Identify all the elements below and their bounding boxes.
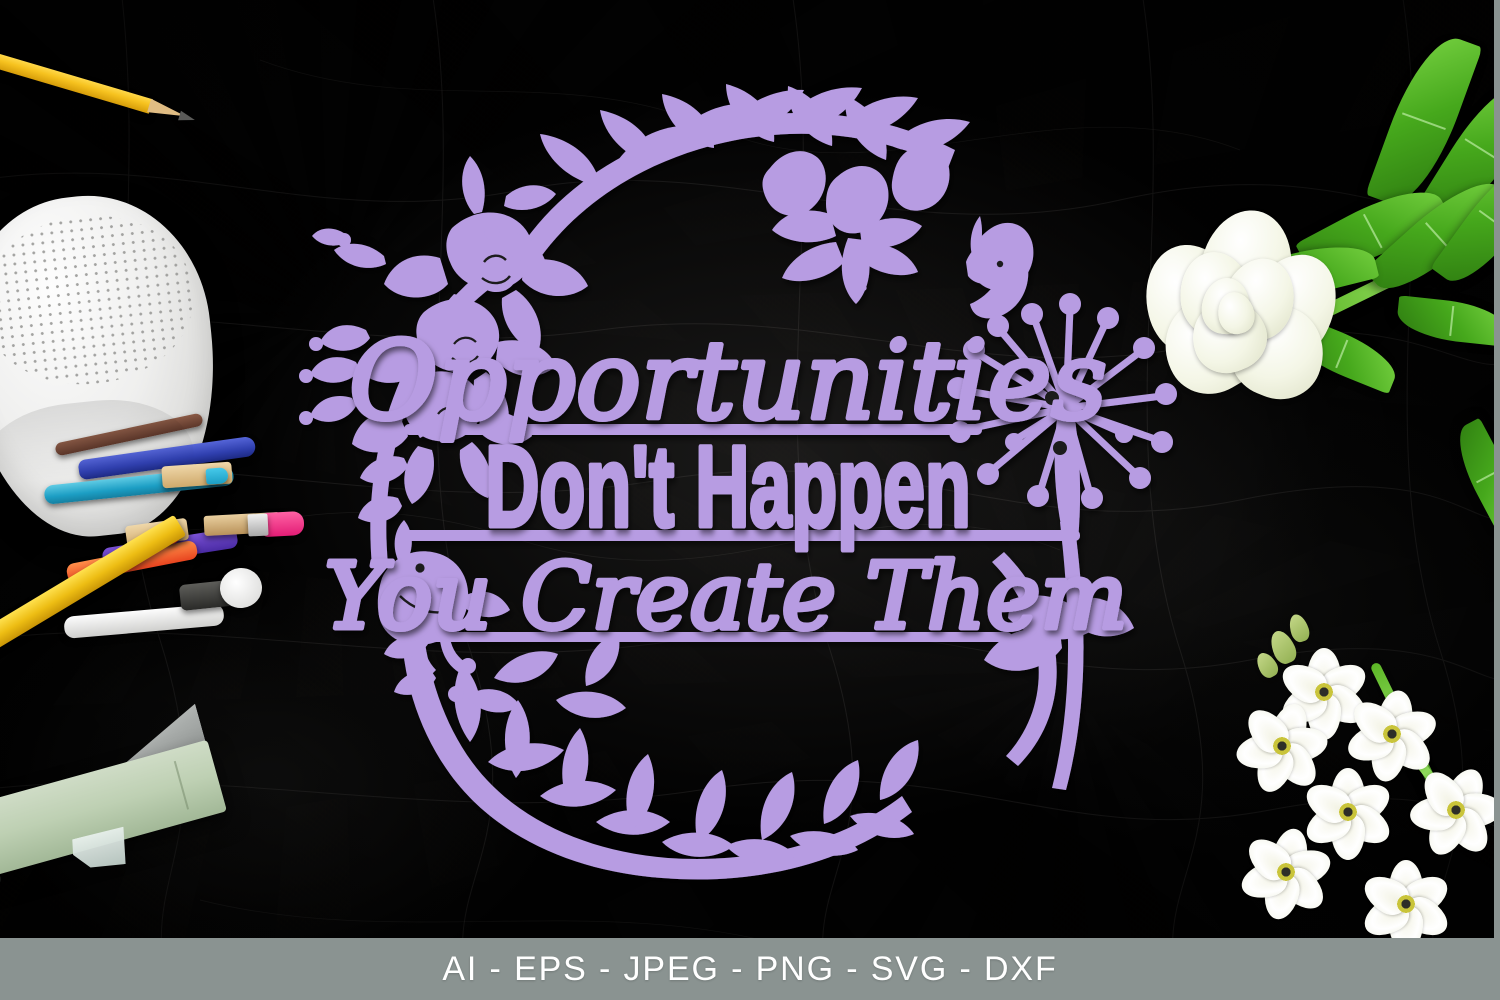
pen-silver-ferrule — [247, 513, 268, 536]
white-star-flowers — [1220, 622, 1500, 952]
right-edge-strip — [1494, 0, 1500, 1000]
leaf-8 — [1395, 295, 1500, 346]
white-rose — [1140, 200, 1350, 400]
file-format-bar: AI - EPS - JPEG - PNG - SVG - DXF — [0, 938, 1500, 1000]
file-format-label: AI - EPS - JPEG - PNG - SVG - DXF — [442, 950, 1057, 989]
product-mockup-canvas: Opportunities Don't Happen You Create Th… — [0, 0, 1500, 1000]
white-mesh-pen-cup — [0, 196, 228, 552]
